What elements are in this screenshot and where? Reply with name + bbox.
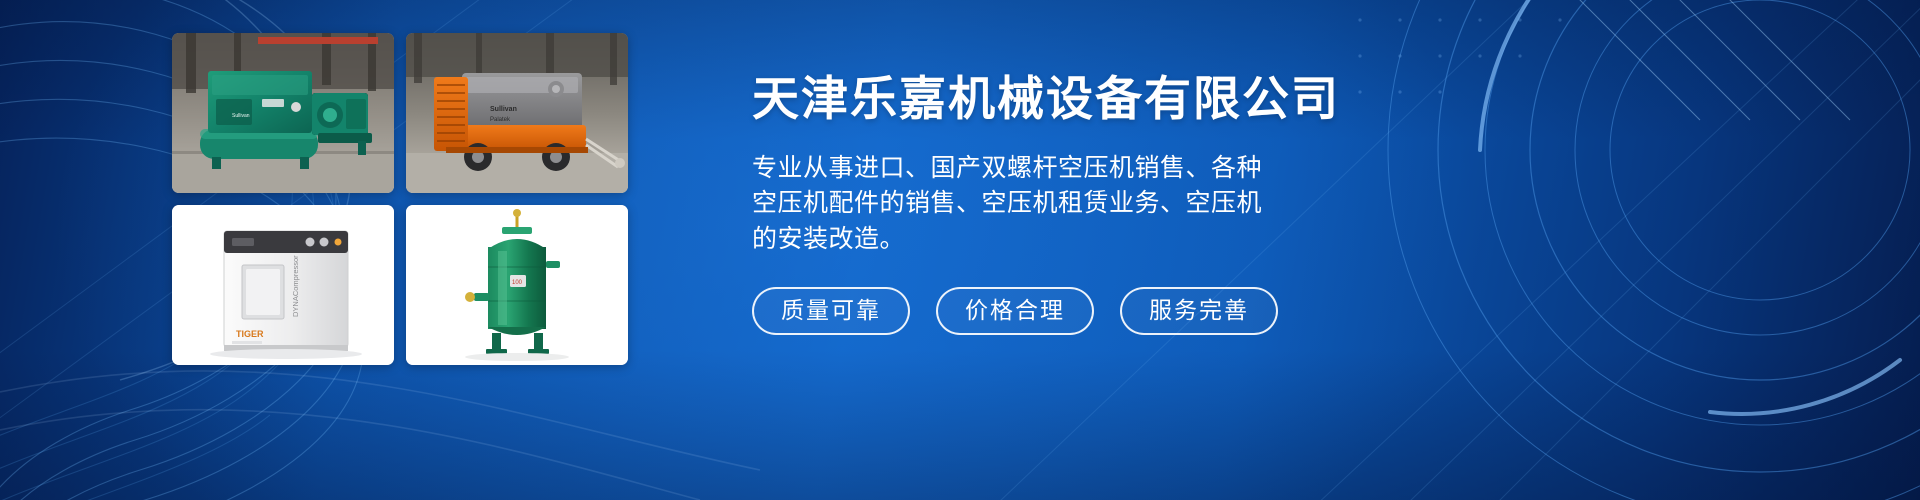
description-line-1: 专业从事进口、国产双螺杆空压机销售、各种 [752, 151, 1332, 187]
company-hero-banner: Sullivan [0, 0, 1920, 500]
photo-green-vertical-air-tank[interactable]: 100 [406, 205, 628, 365]
svg-text:DYNACompressor: DYNACompressor [291, 255, 300, 317]
badge-price-reasonable[interactable]: 价格合理 [936, 287, 1094, 335]
company-description: 专业从事进口、国产双螺杆空压机销售、各种 空压机配件的销售、空压机租赁业务、空压… [752, 151, 1332, 258]
banner-text-content: 天津乐嘉机械设备有限公司 专业从事进口、国产双螺杆空压机销售、各种 空压机配件的… [752, 74, 1512, 335]
badge-service-complete[interactable]: 服务完善 [1120, 287, 1278, 335]
product-photo-grid: Sullivan [172, 33, 628, 370]
svg-text:TIGER: TIGER [236, 329, 264, 339]
photo-orange-portable-towable-compressor[interactable]: Sullivan Palatek [406, 33, 628, 193]
page-title: 天津乐嘉机械设备有限公司 [752, 74, 1512, 125]
photo-green-screw-air-compressor-with-tank[interactable]: Sullivan [172, 33, 394, 193]
svg-text:Palatek: Palatek [490, 117, 511, 123]
photo-white-cabinet-air-compressor[interactable]: DYNACompressor TIGER [172, 205, 394, 365]
badge-quality-reliable[interactable]: 质量可靠 [752, 287, 910, 335]
svg-text:100: 100 [512, 280, 523, 286]
description-line-3: 的安装改造。 [752, 222, 1332, 258]
description-line-2: 空压机配件的销售、空压机租赁业务、空压机 [752, 186, 1332, 222]
svg-text:Sullivan: Sullivan [232, 113, 250, 119]
svg-text:Sullivan: Sullivan [490, 106, 517, 113]
feature-badge-list: 质量可靠 价格合理 服务完善 [752, 287, 1512, 335]
